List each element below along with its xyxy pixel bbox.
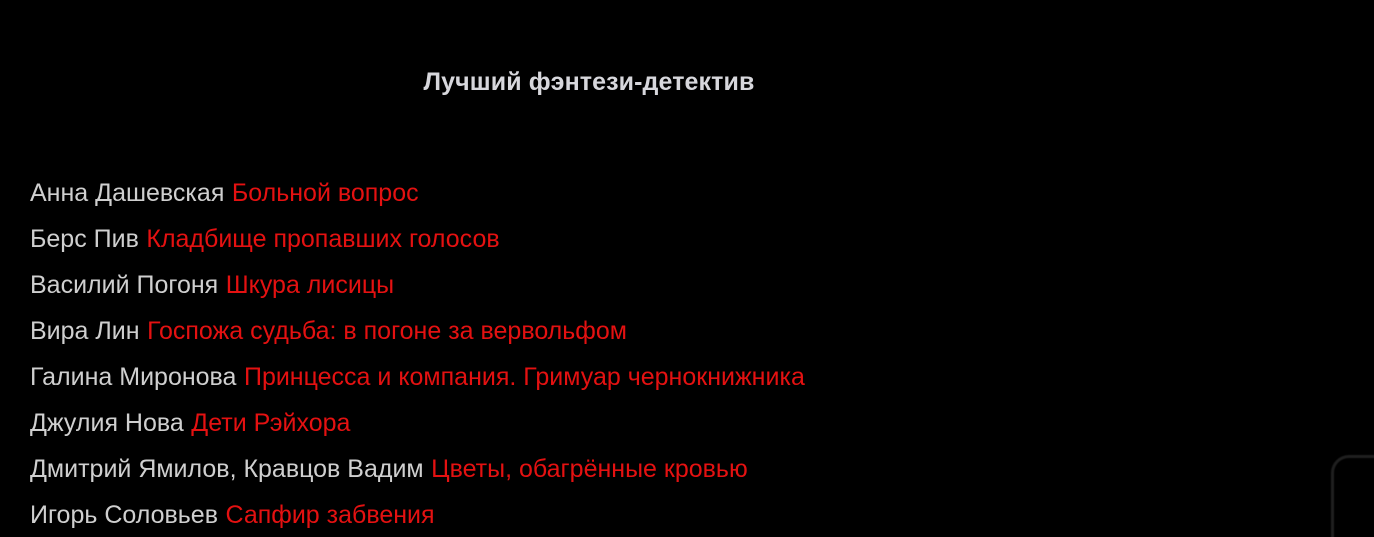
nominee-author: Игорь Соловьев bbox=[30, 501, 218, 529]
nominee-author: Джулия Нова bbox=[30, 409, 184, 437]
nominee-row: Дмитрий Ямилов, Кравцов Вадим Цветы, оба… bbox=[30, 446, 1374, 492]
page-root: Лучший фэнтези-детектив Анна Дашевская Б… bbox=[0, 0, 1374, 537]
nominee-row: Джулия Нова Дети Рэйхора bbox=[30, 400, 1374, 446]
nominee-row: Игорь Соловьев Сапфир забвения bbox=[30, 492, 1374, 537]
nominee-row: Василий Погоня Шкура лисицы bbox=[30, 262, 1374, 308]
nominee-book-title[interactable]: Шкура лисицы bbox=[226, 271, 394, 299]
nominee-book-title[interactable]: Сапфир забвения bbox=[226, 501, 435, 529]
nominee-row: Вира Лин Госпожа судьба: в погоне за вер… bbox=[30, 308, 1374, 354]
nominee-row: Берс Пив Кладбище пропавших голосов bbox=[30, 216, 1374, 262]
nominee-book-title[interactable]: Дети Рэйхора bbox=[191, 409, 350, 437]
nominee-author: Дмитрий Ямилов, Кравцов Вадим bbox=[30, 455, 424, 483]
nominee-book-title[interactable]: Цветы, обагрённые кровью bbox=[431, 455, 748, 483]
nominee-list: Анна Дашевская Больной вопросБерс Пив Кл… bbox=[30, 170, 1374, 537]
nominee-author: Анна Дашевская bbox=[30, 179, 224, 207]
nominee-author: Берс Пив bbox=[30, 225, 139, 253]
nominee-book-title[interactable]: Госпожа судьба: в погоне за вервольфом bbox=[147, 317, 627, 345]
nominee-book-title[interactable]: Принцесса и компания. Гримуар чернокнижн… bbox=[244, 363, 805, 391]
nominee-row: Галина Миронова Принцесса и компания. Гр… bbox=[30, 354, 1374, 400]
nominee-row: Анна Дашевская Больной вопрос bbox=[30, 170, 1374, 216]
nominee-book-title[interactable]: Больной вопрос bbox=[232, 179, 419, 207]
nominee-author: Галина Миронова bbox=[30, 363, 236, 391]
nominee-author: Вира Лин bbox=[30, 317, 140, 345]
page-title: Лучший фэнтези-детектив bbox=[0, 68, 1374, 97]
nominee-author: Василий Погоня bbox=[30, 271, 218, 299]
nominee-book-title[interactable]: Кладбище пропавших голосов bbox=[146, 225, 499, 253]
